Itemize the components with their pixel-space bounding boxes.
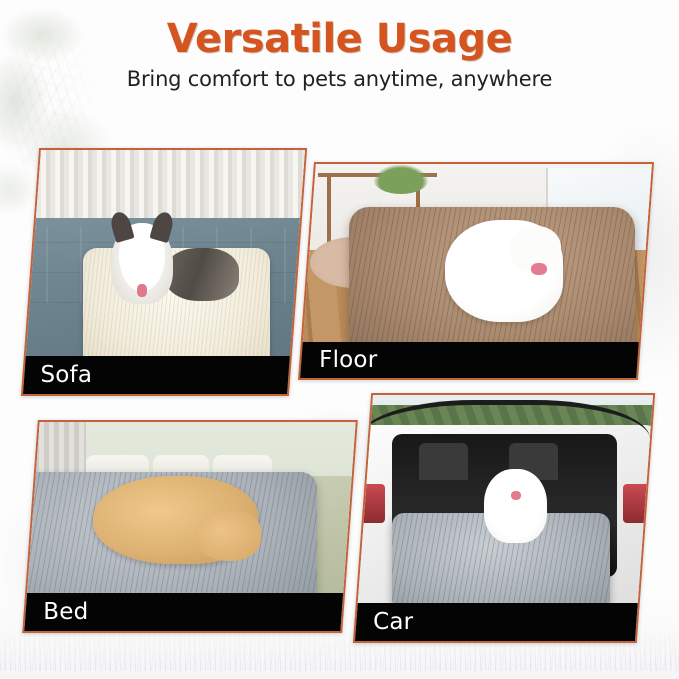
bed-dog — [93, 476, 257, 564]
panel-floor-label: Floor — [298, 347, 377, 373]
dog-tongue-icon — [511, 491, 521, 500]
panel-sofa-caption-bar: Sofa — [21, 356, 307, 394]
panel-bed-caption-bar: Bed — [22, 593, 358, 631]
sofa-second-pet — [164, 248, 239, 302]
panel-floor[interactable]: Floor — [298, 162, 654, 380]
panel-sofa[interactable]: Sofa — [21, 148, 307, 396]
car-taillight-right-icon — [623, 484, 655, 523]
dog-tongue-icon — [531, 263, 546, 275]
car-dog — [484, 469, 547, 543]
car-seat — [419, 443, 468, 480]
panel-bed[interactable]: Bed — [22, 420, 358, 633]
infographic-root: Versatile Usage Bring comfort to pets an… — [0, 0, 679, 679]
panel-sofa-label: Sofa — [21, 362, 92, 388]
panel-car-caption-bar: Car — [353, 603, 655, 641]
floor-plant — [373, 164, 429, 194]
header: Versatile Usage Bring comfort to pets an… — [0, 0, 679, 91]
floor-dog — [444, 220, 563, 323]
dog-head-icon — [195, 511, 261, 560]
panel-floor-caption-bar: Floor — [298, 342, 654, 378]
panel-car-label: Car — [353, 609, 413, 635]
page-title: Versatile Usage — [0, 0, 679, 60]
panel-bed-label: Bed — [22, 599, 88, 625]
panel-car[interactable]: Car — [353, 393, 655, 643]
car-taillight-left-icon — [353, 484, 385, 523]
sofa-dog — [111, 223, 173, 304]
dog-tongue-icon — [137, 284, 147, 297]
page-subtitle: Bring comfort to pets anytime, anywhere — [0, 60, 679, 91]
